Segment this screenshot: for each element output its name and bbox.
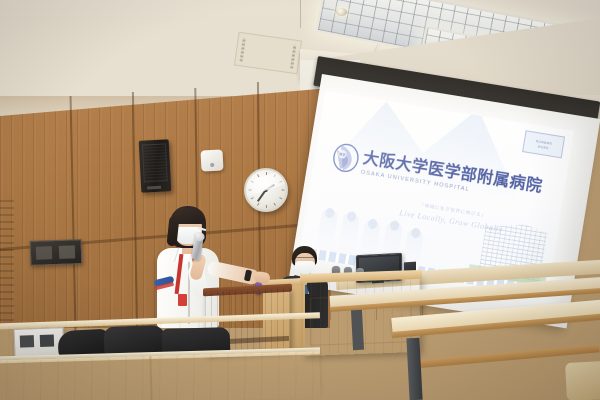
front-desk-row bbox=[0, 351, 321, 400]
hospital-crest-logo: 医学 bbox=[331, 141, 363, 175]
desk-leg bbox=[351, 310, 364, 351]
clock-tick bbox=[266, 205, 267, 208]
wall-speaker-icon bbox=[139, 139, 172, 192]
svg-text:医学: 医学 bbox=[339, 151, 346, 157]
speaker-grill bbox=[142, 143, 168, 182]
slide-certification-badge: 特定機能病院 承認病院 bbox=[522, 130, 565, 158]
lecture-chair bbox=[565, 361, 600, 400]
wall-sensor-icon bbox=[200, 149, 223, 171]
clock-tick bbox=[274, 203, 276, 206]
speaker-brand-label bbox=[147, 186, 161, 190]
face-mask bbox=[295, 261, 315, 274]
clock-tick bbox=[251, 197, 254, 199]
id-badge bbox=[178, 294, 187, 306]
ceiling-panel-seam bbox=[300, 0, 301, 28]
desk-leg bbox=[406, 338, 422, 400]
clock-tick bbox=[279, 197, 282, 199]
lecture-hall-photo: 特定機能病院 承認病院 医学 大阪大学医学部附属病院 OSAKA UNIVERS… bbox=[0, 0, 600, 400]
door-frame-edge bbox=[0, 196, 14, 328]
downlight-icon bbox=[336, 8, 347, 16]
sensor-led-icon bbox=[210, 163, 214, 167]
wall-control-panel-icon bbox=[30, 239, 83, 266]
clock-tick bbox=[282, 190, 285, 191]
cardboard-box bbox=[14, 327, 65, 358]
slide-staff-figure bbox=[337, 211, 360, 257]
badge-line-2: 承認病院 bbox=[537, 144, 549, 150]
